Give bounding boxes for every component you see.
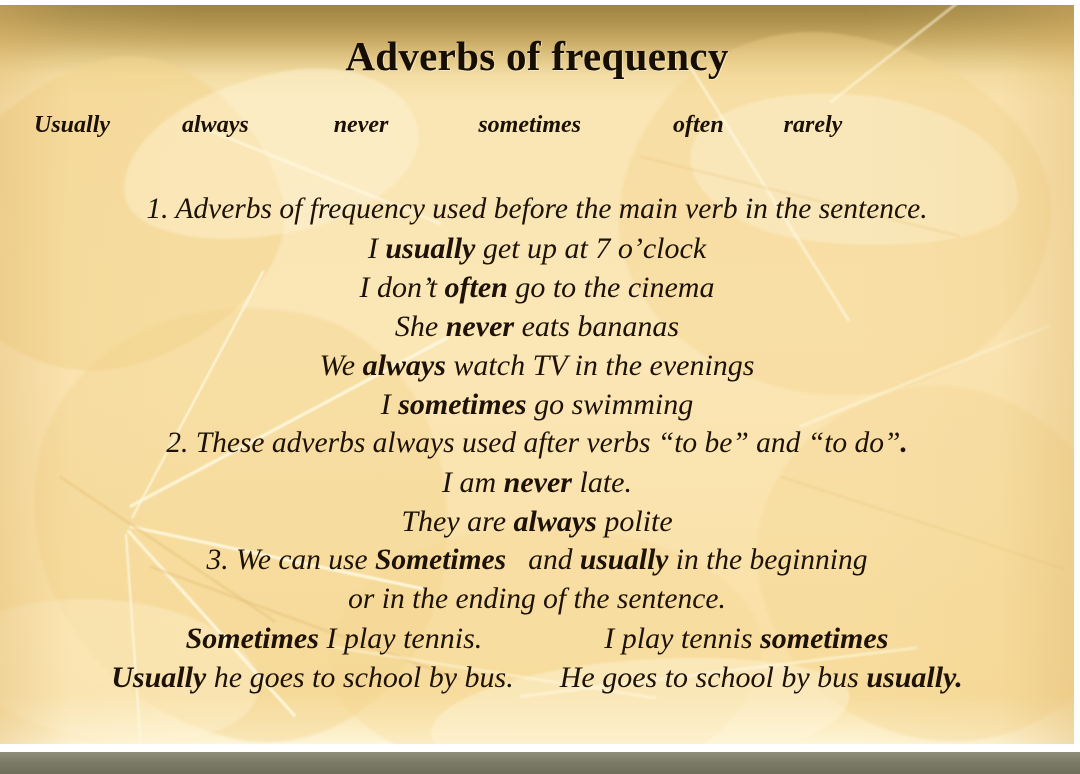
example-post: he goes to school by bus. bbox=[206, 661, 513, 694]
example-post: I play tennis. bbox=[319, 622, 482, 655]
rule-3-adverb-usually: usually bbox=[580, 544, 669, 576]
example-adverb: never bbox=[446, 310, 514, 343]
rule-3-adverb-sometimes: Sometimes bbox=[375, 544, 506, 576]
rule-2-text: 2. These adverbs always used after verbs… bbox=[0, 424, 1074, 463]
rule-2-example-2: They are always polite bbox=[0, 502, 1074, 541]
example-pair-right: I play tennis sometimes bbox=[604, 619, 888, 658]
example-post: go to the cinema bbox=[508, 271, 715, 304]
example-pair-tennis: Sometimes I play tennis. I play tennis s… bbox=[0, 619, 1074, 658]
adverb-item-usually: Usually bbox=[34, 112, 110, 139]
example-pre: She bbox=[395, 310, 446, 343]
example-adverb: sometimes bbox=[398, 388, 526, 421]
example-pre: I play tennis bbox=[604, 622, 760, 655]
example-post: watch TV in the evenings bbox=[446, 349, 755, 382]
rule-1-example-5: I sometimes go swimming bbox=[0, 385, 1074, 424]
example-adverb: often bbox=[445, 271, 508, 304]
example-adverb: usually bbox=[385, 232, 475, 265]
example-post: late. bbox=[572, 466, 632, 499]
rule-1-text: 1. Adverbs of frequency used before the … bbox=[0, 190, 1074, 229]
example-pre: I bbox=[381, 388, 399, 421]
example-pre: They are bbox=[401, 505, 513, 538]
rule-2-body: 2. These adverbs always used after verbs… bbox=[166, 427, 900, 459]
example-adverb: sometimes bbox=[760, 622, 888, 655]
example-post: get up at 7 o’clock bbox=[475, 232, 706, 265]
rule-2-period: . bbox=[900, 427, 907, 459]
example-pre: I don’t bbox=[360, 271, 445, 304]
example-post: go swimming bbox=[527, 388, 694, 421]
page-title: Adverbs of frequency bbox=[0, 32, 1074, 80]
example-pre: We bbox=[320, 349, 363, 382]
rule-3-text: 3. We can use Sometimes and usually in t… bbox=[0, 541, 1074, 580]
footer-olive-band bbox=[0, 752, 1080, 774]
rule-3-text-line2: or in the ending of the sentence. bbox=[0, 580, 1074, 619]
adverb-item-never: never bbox=[334, 112, 389, 139]
rule-3-part-c: and bbox=[506, 544, 580, 576]
adverb-item-often: often bbox=[673, 112, 724, 139]
adverb-item-rarely: rarely bbox=[784, 112, 843, 139]
example-adverb: usually. bbox=[866, 661, 962, 694]
example-adverb: always bbox=[514, 505, 597, 538]
example-post: polite bbox=[597, 505, 673, 538]
rule-3-part-e: in the beginning bbox=[668, 544, 867, 576]
example-adverb: Sometimes bbox=[186, 622, 319, 655]
slide: Adverbs of frequency Usually always neve… bbox=[0, 0, 1080, 774]
rules-body: 1. Adverbs of frequency used before the … bbox=[0, 190, 1074, 697]
rule-1-example-1: I usually get up at 7 o’clock bbox=[0, 229, 1074, 268]
example-pair-school: Usually he goes to school by bus. He goe… bbox=[0, 658, 1074, 697]
example-pair-right: He goes to school by bus usually. bbox=[560, 658, 963, 697]
example-pair-left: Sometimes I play tennis. bbox=[186, 619, 483, 658]
example-pre: He goes to school by bus bbox=[560, 661, 867, 694]
adverb-item-always: always bbox=[182, 112, 249, 139]
rule-1-example-2: I don’t often go to the cinema bbox=[0, 268, 1074, 307]
example-post: eats bananas bbox=[514, 310, 679, 343]
slide-content: Adverbs of frequency Usually always neve… bbox=[0, 0, 1074, 748]
page-frame-right bbox=[1074, 0, 1080, 752]
example-adverb: always bbox=[363, 349, 446, 382]
example-pre: I am bbox=[442, 466, 504, 499]
adverb-item-sometimes: sometimes bbox=[478, 112, 581, 139]
example-pre: I bbox=[368, 232, 386, 265]
example-adverb: never bbox=[504, 466, 572, 499]
rule-1-example-3: She never eats bananas bbox=[0, 307, 1074, 346]
rule-3-part-a: 3. We can use bbox=[206, 544, 375, 576]
rule-2-example-1: I am never late. bbox=[0, 463, 1074, 502]
example-pair-left: Usually he goes to school by bus. bbox=[111, 658, 513, 697]
adverb-list: Usually always never sometimes often rar… bbox=[34, 112, 1044, 139]
example-adverb: Usually bbox=[111, 661, 206, 694]
rule-1-example-4: We always watch TV in the evenings bbox=[0, 346, 1074, 385]
